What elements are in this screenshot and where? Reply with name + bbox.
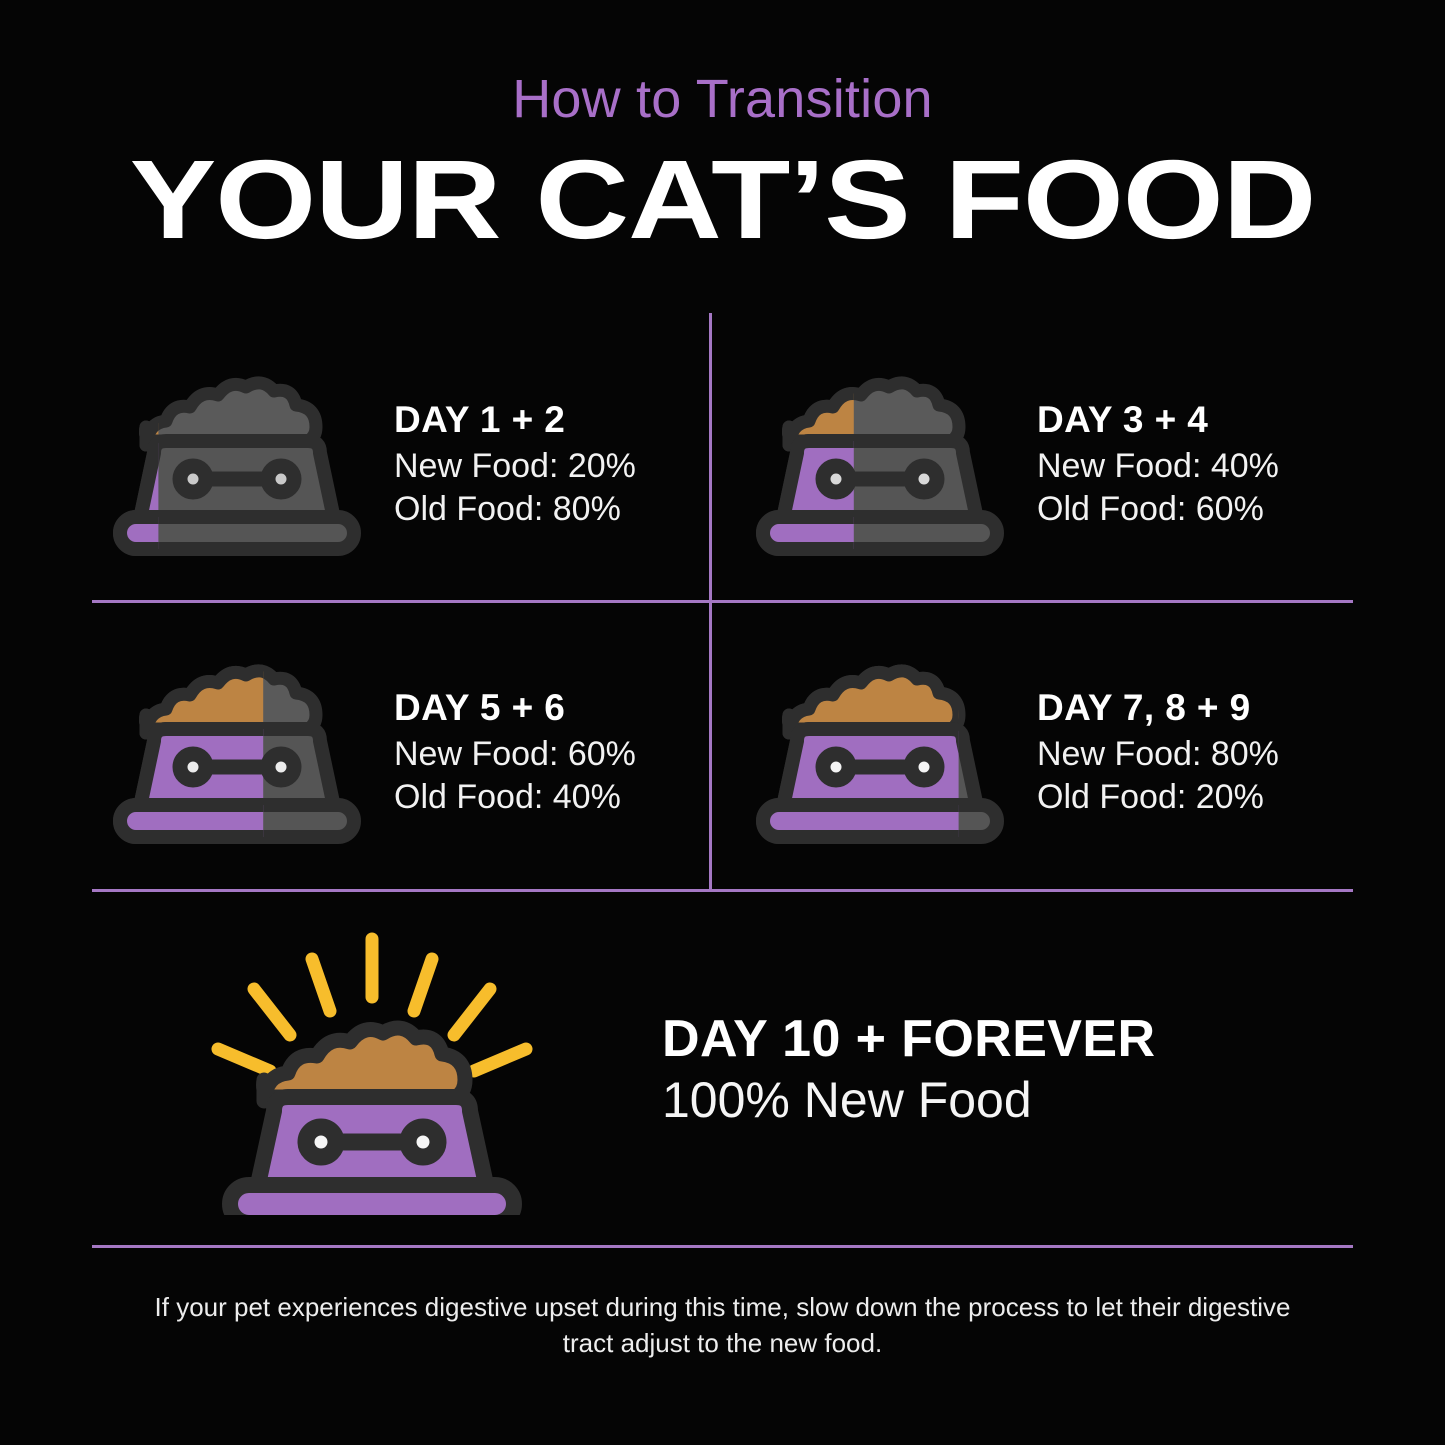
new-food-line: New Food: 60% (394, 733, 709, 777)
day-label: DAY 7, 8 + 9 (1037, 688, 1352, 728)
page-title: YOUR CAT’S FOOD (0, 144, 1445, 256)
bowl-svg-0 (106, 373, 368, 559)
divider-horizontal-bottom (92, 1245, 1353, 1248)
day-label: DAY 10 + FOREVER (662, 1011, 1353, 1068)
day-label: DAY 5 + 6 (394, 688, 709, 728)
food-bowl-icon (735, 373, 1025, 559)
stage-text-day-5-6: DAY 5 + 6 New Food: 60% Old Food: 40% (382, 688, 709, 820)
divider-vertical-lower (709, 602, 712, 890)
stage-card-day-5-6: DAY 5 + 6 New Food: 60% Old Food: 40% (92, 640, 709, 868)
divider-horizontal-top (92, 600, 1353, 603)
stage-text-day-1-2: DAY 1 + 2 New Food: 20% Old Food: 80% (382, 400, 709, 532)
stage-text-day-10-forever: DAY 10 + FOREVER 100% New Food (652, 1011, 1353, 1130)
food-bowl-icon-celebration (92, 925, 652, 1215)
stage-card-day-10-forever: DAY 10 + FOREVER 100% New Food (92, 920, 1353, 1220)
old-food-line: Old Food: 80% (394, 488, 709, 532)
new-food-line: 100% New Food (662, 1072, 1353, 1130)
bowl-svg-final (192, 925, 552, 1215)
divider-vertical-upper (709, 313, 712, 602)
bowl-base-new (230, 1185, 514, 1215)
old-food-line: Old Food: 40% (394, 776, 709, 820)
bowl-svg-3 (749, 661, 1011, 847)
divider-horizontal-middle (92, 889, 1353, 892)
page-subtitle: How to Transition (0, 72, 1445, 126)
day-label: DAY 1 + 2 (394, 400, 709, 440)
old-food-line: Old Food: 60% (1037, 488, 1352, 532)
stage-text-day-3-4: DAY 3 + 4 New Food: 40% Old Food: 60% (1025, 400, 1352, 532)
old-food-line: Old Food: 20% (1037, 776, 1352, 820)
stage-card-day-1-2: DAY 1 + 2 New Food: 20% Old Food: 80% (92, 352, 709, 580)
header: How to Transition YOUR CAT’S FOOD (0, 72, 1445, 256)
food-bowl-icon (735, 661, 1025, 847)
stage-card-day-3-4: DAY 3 + 4 New Food: 40% Old Food: 60% (735, 352, 1352, 580)
bowl-svg-2 (106, 661, 368, 847)
bowl-svg-1 (749, 373, 1011, 559)
footer-note: If your pet experiences digestive upset … (140, 1290, 1305, 1362)
stage-text-day-7-8-9: DAY 7, 8 + 9 New Food: 80% Old Food: 20% (1025, 688, 1352, 820)
food-bowl-icon (92, 661, 382, 847)
new-food-line: New Food: 20% (394, 445, 709, 489)
day-label: DAY 3 + 4 (1037, 400, 1352, 440)
stage-card-day-7-8-9: DAY 7, 8 + 9 New Food: 80% Old Food: 20% (735, 640, 1352, 868)
food-bowl-icon (92, 373, 382, 559)
new-food-line: New Food: 40% (1037, 445, 1352, 489)
new-food-line: New Food: 80% (1037, 733, 1352, 777)
infographic-poster: How to Transition YOUR CAT’S FOOD (0, 0, 1445, 1445)
